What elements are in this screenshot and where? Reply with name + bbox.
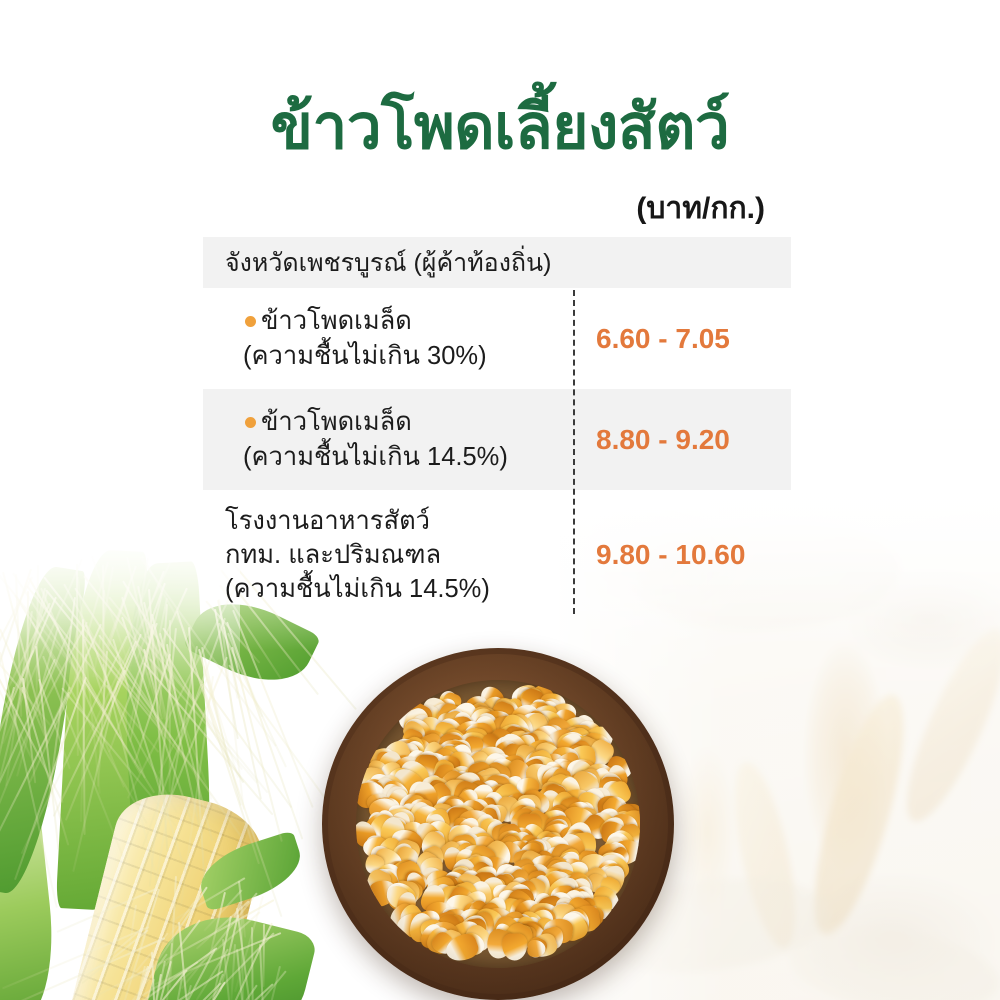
row-price: 8.80 - 9.20 — [573, 424, 791, 456]
row-label-line: (ความชื้นไม่เกิน 14.5%) — [225, 572, 573, 606]
section-header-label: จังหวัดเพชรบูรณ์ (ผู้ค้าท้องถิ่น) — [225, 243, 551, 283]
page-title: ข้าวโพดเลี้ยงสัตว์ — [0, 95, 1000, 160]
row-label-line: ข้าวโพดเมล็ด — [243, 304, 573, 338]
corn-price-infographic: ข้าวโพดเลี้ยงสัตว์ (บาท/กก.) จังหวัดเพชร… — [0, 0, 1000, 1000]
row-label-line: (ความชื้นไม่เกิน 30%) — [243, 339, 573, 373]
row-label: ข้าวโพดเมล็ด (ความชื้นไม่เกิน 14.5%) — [203, 395, 573, 483]
table-row: ข้าวโพดเมล็ด (ความชื้นไม่เกิน 14.5%) 8.8… — [203, 389, 791, 490]
row-price: 9.80 - 10.60 — [573, 539, 791, 571]
table-section-header: จังหวัดเพชรบูรณ์ (ผู้ค้าท้องถิ่น) — [203, 237, 791, 288]
column-divider — [573, 290, 575, 614]
row-label-line: ข้าวโพดเมล็ด — [243, 405, 573, 439]
row-label-line: กทม. และปริมณฑล — [225, 538, 573, 572]
row-label-line: (ความชื้นไม่เกิน 14.5%) — [243, 440, 573, 474]
table-row: โรงงานอาหารสัตว์ กทม. และปริมณฑล (ความชื… — [203, 490, 791, 620]
row-label: ข้าวโพดเมล็ด (ความชื้นไม่เกิน 30%) — [203, 294, 573, 382]
row-price: 6.60 - 7.05 — [573, 323, 791, 355]
table-row: ข้าวโพดเมล็ด (ความชื้นไม่เกิน 30%) 6.60 … — [203, 288, 791, 389]
row-label: โรงงานอาหารสัตว์ กทม. และปริมณฑล (ความชื… — [203, 494, 573, 616]
unit-label: (บาท/กก.) — [0, 185, 765, 232]
row-label-line: โรงงานอาหารสัตว์ — [225, 504, 573, 538]
price-table: จังหวัดเพชรบูรณ์ (ผู้ค้าท้องถิ่น) ข้าวโพ… — [203, 237, 791, 620]
content-layer: ข้าวโพดเลี้ยงสัตว์ (บาท/กก.) จังหวัดเพชร… — [0, 0, 1000, 1000]
